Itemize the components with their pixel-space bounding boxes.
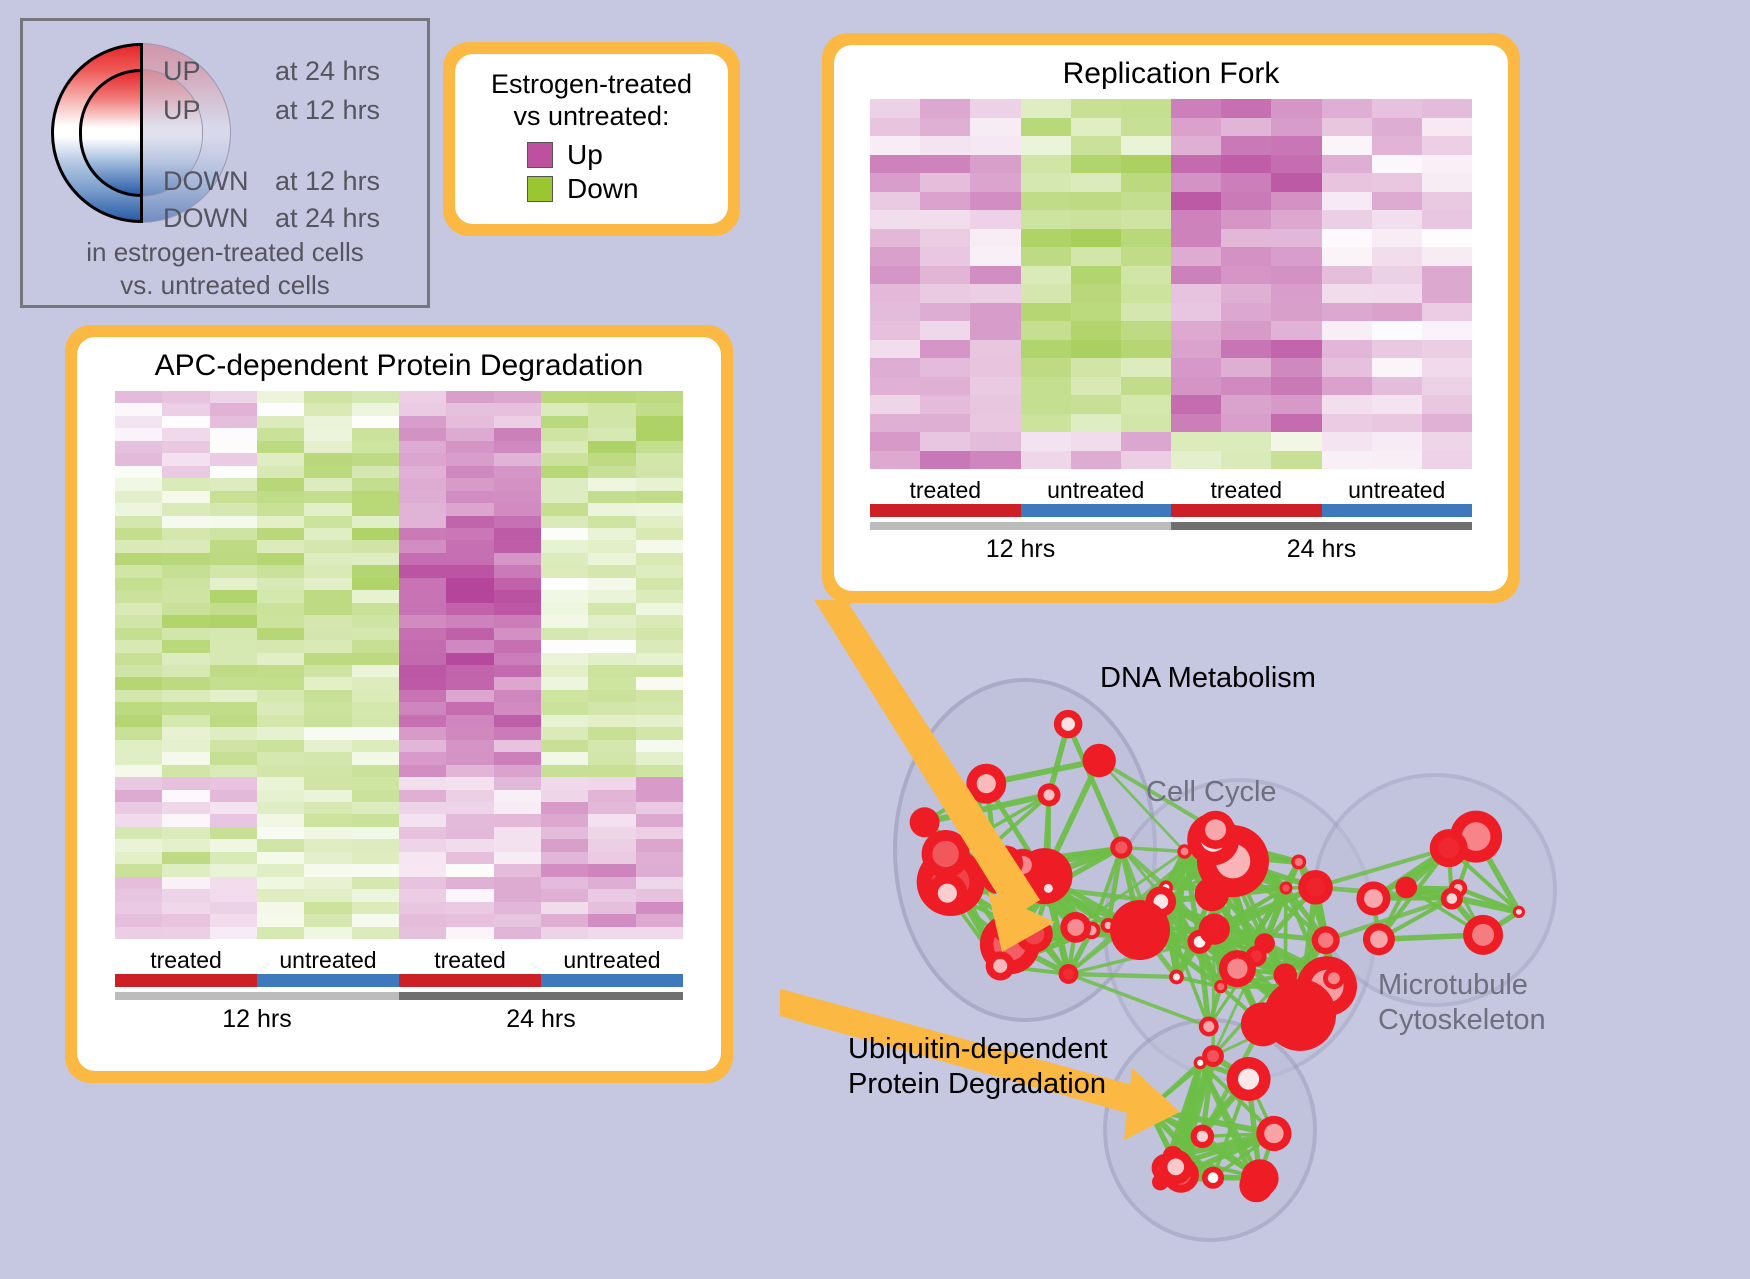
heatmap-cell [1071,414,1121,433]
heatmap-cell [210,628,257,640]
heatmap-cell [1021,99,1071,118]
heatmap-cell [1271,321,1321,340]
group-label: untreated [257,947,399,974]
heatmap-cell [970,247,1020,266]
heatmap-cell [1372,377,1422,396]
heatmap-cell [636,565,683,577]
node-outer-ring [1110,900,1170,960]
heatmap-cell [1021,136,1071,155]
heatmap-cell [541,877,588,889]
heatmap-cell [304,889,351,901]
heatmap-cell [970,321,1020,340]
heatmap-cell [210,578,257,590]
heatmap-cell [162,391,209,403]
heatmap-cell [541,640,588,652]
network-node-hub[interactable] [1264,979,1336,1051]
heatmap-cell [446,765,493,777]
heatmap-cell [399,914,446,926]
heatmap-cell [1221,99,1271,118]
heatmap-cell [1071,247,1121,266]
heatmap-cell [304,740,351,752]
network-node-dna-metabolism[interactable] [1039,879,1058,898]
heatmap-cell [115,653,162,665]
network-node-cell-cycle[interactable] [1195,877,1229,911]
heatmap-cell [257,702,304,714]
heatmap-cell [636,628,683,640]
network-node-dna-metabolism[interactable] [1082,744,1115,777]
node-inner-core [1061,717,1075,731]
network-node-cell-cycle[interactable] [1169,970,1184,985]
heatmap-cell [115,677,162,689]
heatmap-cell [870,118,920,137]
heatmap-cell [494,827,541,839]
heatmap-cell [1071,229,1121,248]
apc-degradation-heatmap [115,391,683,939]
heatmap-cell [1121,395,1171,414]
heatmap-cell [636,702,683,714]
heatmap-cell [588,540,635,552]
apc-panel-title: APC-dependent Protein Degradation [77,337,721,383]
heatmap-cell [115,441,162,453]
heatmap-cell [352,416,399,428]
heatmap-cell [588,914,635,926]
node-inner-core [1472,924,1494,946]
heatmap-cell [210,727,257,739]
heatmap-cell [541,441,588,453]
heatmap-cell [588,665,635,677]
heatmap-cell [588,827,635,839]
heatmap-cell [257,441,304,453]
heatmap-cell [541,752,588,764]
network-node-cell-cycle[interactable] [1177,844,1191,858]
heatmap-cell [115,565,162,577]
heatmap-cell [1372,340,1422,359]
heatmap-cell [115,752,162,764]
heatmap-cell [115,615,162,627]
network-node-dna-metabolism[interactable] [1038,783,1061,806]
microtubule-line2: Cytoskeleton [1378,1003,1546,1038]
heatmap-cell [352,603,399,615]
heatmap-cell [210,653,257,665]
heatmap-cell [257,690,304,702]
heatmap-cell [304,653,351,665]
node-outer-ring [1264,979,1336,1051]
heatmap-cell [352,640,399,652]
heatmap-cell [1221,136,1271,155]
heatmap-cell [636,927,683,939]
heatmap-cell [588,653,635,665]
heatmap-cell [1271,99,1321,118]
heatmap-cell [257,653,304,665]
heatmap-cell [352,565,399,577]
heatmap-cell [210,864,257,876]
heatmap-cell [1422,395,1472,414]
heatmap-cell [588,790,635,802]
heatmap-cell [210,852,257,864]
heatmap-cell [970,358,1020,377]
network-node-ubiquitin[interactable] [1202,1167,1224,1189]
heatmap-cell [636,777,683,789]
heatmap-cell [304,777,351,789]
network-node-dna-metabolism[interactable] [1060,912,1091,943]
heatmap-cell [1071,136,1121,155]
heatmap-cell [1271,173,1321,192]
heatmap-cell [446,827,493,839]
network-node-microtubule[interactable] [1395,877,1417,899]
node-inner-core [1207,1050,1219,1062]
network-node-dna-metabolism[interactable] [1059,964,1079,984]
heatmap-cell [115,416,162,428]
heatmap-cell [494,565,541,577]
heatmap-cell [588,702,635,714]
heatmap-cell [446,864,493,876]
heatmap-cell [1372,118,1422,137]
heatmap-cell [257,902,304,914]
heatmap-cell [970,173,1020,192]
network-node-dna-metabolism[interactable] [927,873,967,913]
heatmap-cell [162,491,209,503]
heatmap-cell [920,303,970,322]
network-node-ubiquitin[interactable] [1227,1057,1271,1101]
heatmap-cell [399,814,446,826]
heatmap-cell [1071,192,1121,211]
heatmap-cell [636,615,683,627]
heatmap-cell [870,395,920,414]
heatmap-cell [588,578,635,590]
heatmap-cell [541,416,588,428]
heatmap-cell [1422,358,1472,377]
heatmap-cell [210,814,257,826]
node-outer-ring [1241,1159,1279,1197]
heatmap-cell [541,827,588,839]
network-node-ubiquitin[interactable] [1202,1045,1224,1067]
heatmap-cell [1271,266,1321,285]
heatmap-cell [352,503,399,515]
heatmap-cell [446,690,493,702]
heatmap-cell [1422,247,1472,266]
heatmap-cell [1121,340,1171,359]
heatmap-cell [162,914,209,926]
heatmap-cell [257,565,304,577]
heatmap-cell [257,852,304,864]
network-edge [1213,929,1214,1056]
heatmap-cell [541,603,588,615]
heatmap-cell [636,603,683,615]
heatmap-cell [399,839,446,851]
network-node-dna-metabolism[interactable] [910,807,940,837]
network-node-microtubule[interactable] [1441,888,1463,910]
heatmap-cell [494,403,541,415]
heatmap-cell [1221,395,1271,414]
heatmap-cell [162,653,209,665]
network-node-ubiquitin[interactable] [1256,1116,1291,1151]
network-node-cell-cycle[interactable] [1298,870,1333,905]
heatmap-cell [304,927,351,939]
heatmap-cell [352,839,399,851]
heatmap-cell [399,752,446,764]
heatmap-cell [1021,432,1071,451]
heatmap-cell [541,702,588,714]
heatmap-cell [1372,192,1422,211]
heatmap-cell [970,284,1020,303]
heatmap-cell [588,690,635,702]
heatmap-cell [1422,340,1472,359]
node-outer-ring [1082,744,1115,777]
heatmap-cell [446,516,493,528]
network-node-cell-cycle[interactable] [1279,882,1292,895]
heatmap-cell [1071,155,1121,174]
heatmap-cell [920,414,970,433]
apc-degradation-panel: APC-dependent Protein Degradation treate… [65,325,733,1083]
heatmap-cell [1422,266,1472,285]
heatmap-cell [304,553,351,565]
ring-midline [140,43,143,223]
heatmap-cell [352,540,399,552]
heatmap-cell [1171,155,1221,174]
heatmap-cell [494,864,541,876]
heatmap-cell [257,889,304,901]
heatmap-cell [1221,155,1271,174]
network-node-cell-cycle[interactable] [1199,1017,1219,1037]
functional-network-diagram: DNA Metabolism Cell Cycle Microtubule Cy… [780,600,1750,1279]
legend-direction: DOWN [163,203,275,234]
heatmap-cell [399,765,446,777]
group-bar-treated-12 [870,504,1021,517]
heatmap-cell [588,889,635,901]
heatmap-cell [210,839,257,851]
heatmap-cell [1271,303,1321,322]
heatmap-cell [352,727,399,739]
heatmap-cell [1271,210,1321,229]
heatmap-cell [162,441,209,453]
heatmap-cell [541,864,588,876]
heatmap-cell [399,653,446,665]
heatmap-cell [870,432,920,451]
heatmap-cell [162,503,209,515]
heatmap-cell [541,491,588,503]
heatmap-cell [446,727,493,739]
time-label: 24 hrs [1171,535,1472,564]
heatmap-cell [304,441,351,453]
heatmap-cell [970,118,1020,137]
heatmap-cell [636,889,683,901]
network-node-microtubule[interactable] [1513,906,1525,918]
heatmap-cell [494,677,541,689]
heatmap-cell [210,927,257,939]
heatmap-cell [446,852,493,864]
heatmap-cell [399,603,446,615]
heatmap-cell [541,690,588,702]
heatmap-cell [1322,303,1372,322]
heatmap-cell [588,877,635,889]
heatmap-cell [352,403,399,415]
heatmap-cell [588,553,635,565]
heatmap-cell [257,827,304,839]
heatmap-cell [1071,432,1121,451]
heatmap-cell [162,740,209,752]
heatmap-cell [870,136,920,155]
heatmap-cell [541,615,588,627]
heatmap-cell [399,665,446,677]
heatmap-cell [636,453,683,465]
heatmap-cell [920,192,970,211]
network-node-microtubule[interactable] [1363,923,1395,955]
heatmap-cell [970,136,1020,155]
time-bar-24hrs [399,992,683,1000]
heatmap-cell [588,528,635,540]
heatmap-cell [257,528,304,540]
heatmap-cell [162,478,209,490]
heatmap-cell [494,877,541,889]
heatmap-cell [446,540,493,552]
heatmap-cell [636,727,683,739]
heatmap-cell [588,752,635,764]
network-node-ubiquitin[interactable] [1241,1159,1279,1197]
network-node-microtubule[interactable] [1463,915,1503,955]
heatmap-cell [210,478,257,490]
heatmap-cell [494,516,541,528]
heatmap-cell [352,677,399,689]
network-node-ubiquitin[interactable] [1158,1150,1193,1185]
heatmap-cell [115,403,162,415]
heatmap-cell [210,690,257,702]
heatmap-cell [870,284,920,303]
heatmap-cell [1422,173,1472,192]
heatmap-cell [588,615,635,627]
legend-time: at 24 hrs [275,56,380,87]
network-node-cell-cycle[interactable] [1323,967,1345,989]
network-node-dna-metabolism[interactable] [1110,836,1132,858]
heatmap-cell [210,528,257,540]
heatmap-cell [1021,173,1071,192]
heatmap-cell [115,516,162,528]
heatmap-cell [494,690,541,702]
heatmap-cell [588,640,635,652]
node-inner-core [1295,858,1303,866]
heatmap-cell [1372,210,1422,229]
heatmap-cell [1071,358,1121,377]
network-node-microtubule[interactable] [1356,881,1390,915]
heatmap-cell [636,902,683,914]
heatmap-cell [399,802,446,814]
legend-direction: UP [163,56,275,87]
cluster-label-microtubule-cytoskeleton: Microtubule Cytoskeleton [1378,968,1546,1038]
heatmap-cell [399,540,446,552]
group-label: untreated [541,947,683,974]
node-inner-core [1063,968,1074,979]
heatmap-cell [541,677,588,689]
heatmap-cell [162,777,209,789]
heatmap-cell [304,902,351,914]
heatmap-cell [352,889,399,901]
heatmap-cell [494,765,541,777]
heatmap-cell [636,752,683,764]
legend-caption-line1: in estrogen-treated cells [23,236,427,269]
heatmap-cell [304,516,351,528]
network-node-cell-cycle[interactable] [1199,914,1230,945]
heatmap-cell [352,852,399,864]
heatmap-cell [1271,414,1321,433]
heatmap-cell [1171,247,1221,266]
heatmap-cell [541,565,588,577]
heatmap-cell [1422,118,1472,137]
heatmap-cell [115,391,162,403]
heatmap-cell [494,628,541,640]
legend-row-down-24: DOWN at 24 hrs [163,203,380,234]
heatmap-cell [970,451,1020,470]
legend-direction: DOWN [163,166,275,197]
heatmap-cell [1021,192,1071,211]
heatmap-cell [1171,377,1221,396]
network-node-hub[interactable] [1110,900,1170,960]
heatmap-cell [920,395,970,414]
heatmap-cell [588,391,635,403]
heatmap-cell [352,453,399,465]
network-node-cell-cycle[interactable] [1291,854,1306,869]
heatmap-cell [257,715,304,727]
heatmap-cell [304,428,351,440]
network-node-dna-metabolism[interactable] [986,951,1015,980]
heatmap-cell [1422,99,1472,118]
heatmap-cell [162,553,209,565]
cluster-label-ubiquitin-degradation: Ubiquitin-dependent Protein Degradation [848,1032,1108,1102]
apc-group-bars [115,974,683,987]
heatmap-cell [541,478,588,490]
heatmap-cell [162,889,209,901]
heatmap-cell [115,453,162,465]
heatmap-cell [210,565,257,577]
heatmap-cell [352,877,399,889]
network-node-microtubule[interactable] [1430,829,1468,867]
heatmap-cell [115,715,162,727]
heatmap-cell [304,615,351,627]
network-node-ubiquitin[interactable] [1191,1125,1215,1149]
heatmap-cell [541,852,588,864]
network-node-cell-cycle[interactable] [1196,811,1234,849]
network-node-cell-cycle[interactable] [1219,950,1256,987]
heatmap-cell [494,752,541,764]
heatmap-cell [210,790,257,802]
heatmap-cell [115,877,162,889]
heatmap-cell [115,540,162,552]
heatmap-cell [1071,173,1121,192]
time-label: 24 hrs [399,1005,683,1034]
heatmap-cell [636,478,683,490]
group-bar-untreated-24 [1322,504,1473,517]
heatmap-cell [970,266,1020,285]
heatmap-cell [588,453,635,465]
heatmap-cell [1322,210,1372,229]
heatmap-cell [1171,303,1221,322]
heatmap-cell [210,777,257,789]
heatmap-cell [1322,414,1372,433]
heatmap-cell [304,765,351,777]
heatmap-cell [304,690,351,702]
heatmap-cell [870,414,920,433]
heatmap-cell [1422,377,1472,396]
heatmap-cell [162,690,209,702]
heatmap-cell [494,590,541,602]
heatmap-cell [1271,118,1321,137]
heatmap-cell [446,491,493,503]
network-node-cell-cycle[interactable] [1312,926,1340,954]
node-inner-core [1438,838,1459,859]
heatmap-cell [541,665,588,677]
network-node-dna-metabolism[interactable] [1054,710,1083,739]
heatmap-cell [870,266,920,285]
heatmap-cell [210,640,257,652]
heatmap-cell [352,441,399,453]
